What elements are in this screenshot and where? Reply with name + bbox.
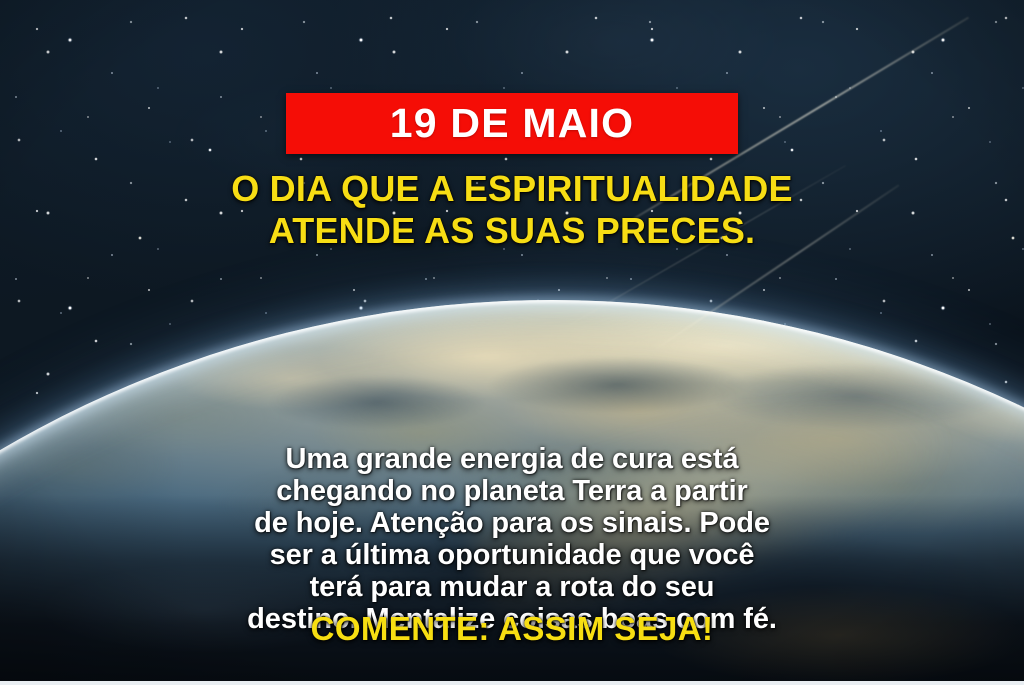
body-line-2: chegando no planeta Terra a partir	[52, 475, 972, 507]
headline: O DIA QUE A ESPIRITUALIDADE ATENDE AS SU…	[0, 168, 1024, 252]
body-line-3: de hoje. Atenção para os sinais. Pode	[52, 507, 972, 539]
poster-content: 19 DE MAIO O DIA QUE A ESPIRITUALIDADE A…	[0, 0, 1024, 685]
date-banner-label: 19 DE MAIO	[390, 103, 634, 144]
headline-line-1: O DIA QUE A ESPIRITUALIDADE	[0, 168, 1024, 210]
poster-canvas: 19 DE MAIO O DIA QUE A ESPIRITUALIDADE A…	[0, 0, 1024, 685]
body-line-5: terá para mudar a rota do seu	[52, 571, 972, 603]
date-banner: 19 DE MAIO	[286, 93, 738, 154]
body-paragraph: Uma grande energia de cura está chegando…	[0, 443, 1024, 635]
headline-line-2: ATENDE AS SUAS PRECES.	[0, 210, 1024, 252]
body-line-1: Uma grande energia de cura está	[52, 443, 972, 475]
call-to-action-text: COMENTE: ASSIM SEJA!	[0, 612, 1024, 645]
body-line-4: ser a última oportunidade que você	[52, 539, 972, 571]
